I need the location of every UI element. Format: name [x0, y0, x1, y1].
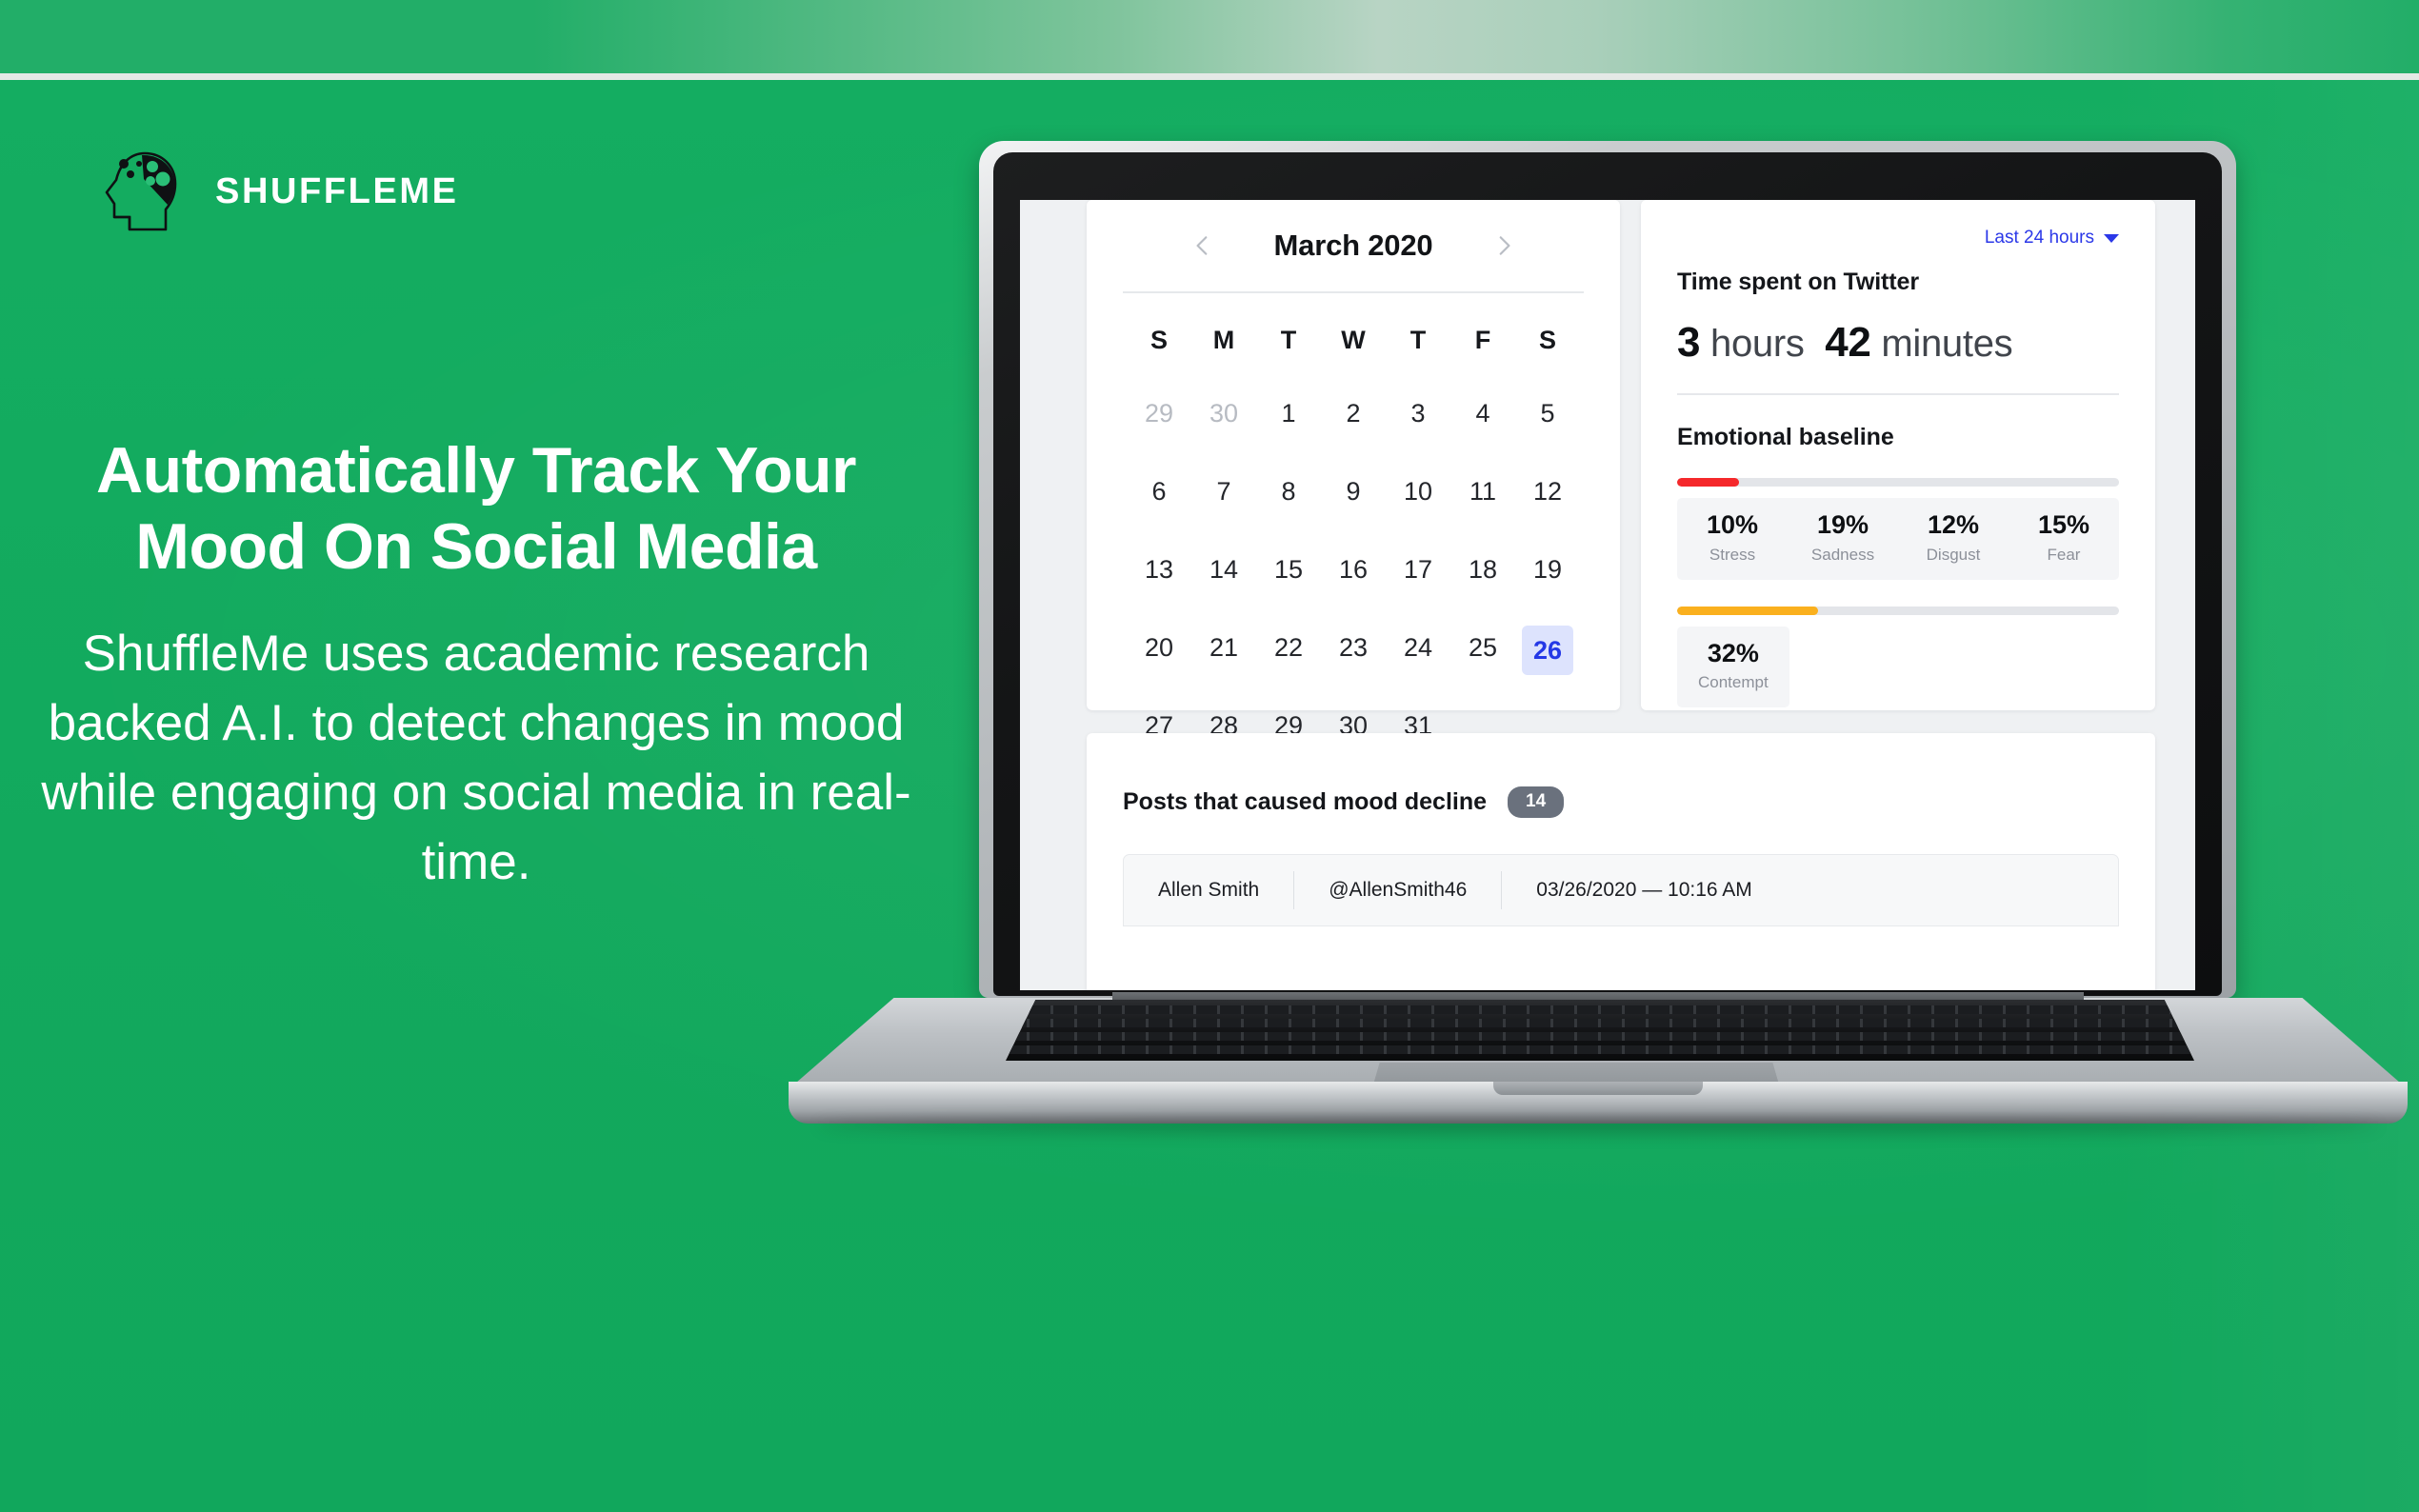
posts-title: Posts that caused mood decline — [1123, 788, 1487, 816]
stats-card: Last 24 hours Time spent on Twitter 3 ho… — [1641, 200, 2155, 710]
emotion-percent: 19% — [1809, 511, 1877, 540]
calendar-dow-5: F — [1450, 326, 1515, 355]
emotion-percent: 15% — [2029, 511, 2098, 540]
calendar-day-17[interactable]: 17 — [1386, 547, 1450, 591]
calendar-dow-2: T — [1256, 326, 1321, 355]
time-hours-unit: hours — [1710, 323, 1805, 365]
table-row[interactable]: Allen Smith @AllenSmith46 03/26/2020 — 1… — [1123, 854, 2119, 926]
stats-divider — [1677, 393, 2119, 395]
emotion-percent: 12% — [1919, 511, 1988, 540]
calendar-day-9[interactable]: 9 — [1321, 469, 1386, 513]
time-minutes-number: 42 — [1825, 319, 1870, 366]
emotion-label: Disgust — [1919, 546, 1988, 565]
calendar-day-label: 17 — [1404, 555, 1432, 584]
emotion-percent: 10% — [1698, 511, 1767, 540]
calendar-day-label: 10 — [1404, 477, 1432, 506]
time-spent-title: Time spent on Twitter — [1677, 269, 2119, 296]
chevron-down-icon[interactable] — [2104, 234, 2119, 243]
emotion-label: Sadness — [1809, 546, 1877, 565]
emotion-tile-disgust: 12%Disgust — [1898, 498, 2009, 580]
calendar-day-23[interactable]: 23 — [1321, 626, 1386, 669]
calendar-day-label: 11 — [1469, 477, 1496, 506]
emotion-tile-stress: 10%Stress — [1677, 498, 1788, 580]
post-author: Allen Smith — [1124, 879, 1293, 902]
calendar-day-label: 26 — [1522, 626, 1573, 675]
calendar-dow-3: W — [1321, 326, 1386, 355]
progress-fill — [1677, 478, 1739, 487]
calendar-day-20[interactable]: 20 — [1127, 626, 1191, 669]
calendar-day-30[interactable]: 30 — [1191, 391, 1256, 435]
calendar-day-2[interactable]: 2 — [1321, 391, 1386, 435]
calendar-grid: SMTWTFS 29301234567891011121314151617181… — [1087, 293, 1620, 747]
chevron-left-icon[interactable] — [1190, 233, 1215, 258]
calendar-day-label: 29 — [1145, 399, 1173, 428]
emotional-group-0: 10%Stress19%Sadness12%Disgust15%Fear — [1677, 478, 2119, 580]
emotional-baseline-title: Emotional baseline — [1677, 424, 2119, 451]
calendar-day-10[interactable]: 10 — [1386, 469, 1450, 513]
head-with-thought-bubbles-icon — [103, 150, 183, 232]
calendar-day-13[interactable]: 13 — [1127, 547, 1191, 591]
headline-line-2: Mood On Social Media — [135, 510, 816, 583]
calendar-day-14[interactable]: 14 — [1191, 547, 1256, 591]
calendar-day-label: 16 — [1339, 555, 1368, 584]
range-label[interactable]: Last 24 hours — [1985, 228, 2094, 249]
calendar-day-21[interactable]: 21 — [1191, 626, 1256, 669]
calendar-day-label: 7 — [1216, 477, 1230, 506]
emotion-label: Stress — [1698, 546, 1767, 565]
post-handle: @AllenSmith46 — [1294, 879, 1501, 902]
calendar-day-25[interactable]: 25 — [1450, 626, 1515, 669]
calendar-day-label: 24 — [1404, 633, 1432, 662]
calendar-day-8[interactable]: 8 — [1256, 469, 1321, 513]
calendar-day-label: 22 — [1274, 633, 1303, 662]
calendar-day-7[interactable]: 7 — [1191, 469, 1256, 513]
calendar-dow-6: S — [1515, 326, 1580, 355]
calendar-day-label: 23 — [1339, 633, 1368, 662]
calendar-day-1[interactable]: 1 — [1256, 391, 1321, 435]
calendar-header: March 2020 — [1087, 200, 1620, 291]
calendar-day-label: 6 — [1151, 477, 1166, 506]
calendar-day-label: 21 — [1209, 633, 1238, 662]
chevron-right-icon[interactable] — [1491, 233, 1516, 258]
calendar-day-19[interactable]: 19 — [1515, 547, 1580, 591]
post-timestamp: 03/26/2020 — 10:16 AM — [1502, 879, 1787, 902]
laptop-mockup: March 2020 SMTWTFS 293012345678910111213… — [789, 141, 2408, 1131]
laptop-screen: March 2020 SMTWTFS 293012345678910111213… — [1020, 200, 2195, 990]
page-title: Automatically Track Your Mood On Social … — [57, 433, 895, 585]
calendar-dow-4: T — [1386, 326, 1450, 355]
calendar-day-label: 15 — [1274, 555, 1303, 584]
calendar-day-label: 20 — [1145, 633, 1173, 662]
laptop-shadow — [817, 1118, 2379, 1133]
calendar-week-row: 293012345 — [1127, 391, 1580, 435]
calendar-day-label: 25 — [1469, 633, 1497, 662]
calendar-day-3[interactable]: 3 — [1386, 391, 1450, 435]
calendar-day-5[interactable]: 5 — [1515, 391, 1580, 435]
calendar-day-label: 5 — [1540, 399, 1554, 428]
laptop-base — [789, 975, 2408, 1131]
emotional-group-1: 32%Contempt — [1677, 607, 2119, 708]
calendar-day-label: 19 — [1533, 555, 1562, 584]
laptop-keyboard — [1006, 1000, 2194, 1061]
top-gradient-strip — [0, 0, 2419, 73]
app-content-area: March 2020 SMTWTFS 293012345678910111213… — [1087, 200, 2155, 990]
calendar-day-headers: SMTWTFS — [1127, 326, 1580, 355]
posts-count-badge: 14 — [1508, 786, 1564, 818]
calendar-day-4[interactable]: 4 — [1450, 391, 1515, 435]
brand-logo[interactable]: SHUFFLEME — [103, 150, 459, 232]
top-divider-line — [0, 73, 2419, 80]
calendar-day-label: 18 — [1469, 555, 1497, 584]
emotion-label: Contempt — [1698, 673, 1769, 692]
calendar-dow-0: S — [1127, 326, 1191, 355]
emotional-progress-bar — [1677, 607, 2119, 615]
calendar-day-6[interactable]: 6 — [1127, 469, 1191, 513]
calendar-day-label: 14 — [1209, 555, 1238, 584]
posts-card: Posts that caused mood decline 14 Allen … — [1087, 733, 2155, 990]
emotion-tile-fear: 15%Fear — [2009, 498, 2119, 580]
range-selector[interactable]: Last 24 hours — [1677, 225, 2119, 251]
calendar-day-15[interactable]: 15 — [1256, 547, 1321, 591]
calendar-dow-1: M — [1191, 326, 1256, 355]
emotion-tile-sadness: 19%Sadness — [1788, 498, 1898, 580]
calendar-day-label: 3 — [1410, 399, 1425, 428]
progress-fill — [1677, 607, 1818, 615]
posts-header: Posts that caused mood decline 14 — [1087, 733, 2155, 818]
emotion-percent: 32% — [1698, 640, 1769, 668]
headline-line-1: Automatically Track Your — [96, 434, 856, 507]
time-hours-number: 3 — [1677, 319, 1700, 366]
calendar-day-label: 4 — [1475, 399, 1489, 428]
calendar-week-row: 6789101112 — [1127, 469, 1580, 513]
brand-wordmark: SHUFFLEME — [215, 173, 459, 209]
calendar-month-title: March 2020 — [1274, 229, 1433, 263]
calendar-day-label: 30 — [1209, 399, 1238, 428]
emotion-tiles: 32%Contempt — [1677, 627, 1789, 708]
calendar-day-24[interactable]: 24 — [1386, 626, 1450, 669]
calendar-day-label: 9 — [1346, 477, 1360, 506]
calendar-week-row: 13141516171819 — [1127, 547, 1580, 591]
calendar-weeks: 2930123456789101112131415161718192021222… — [1127, 391, 1580, 747]
emotion-label: Fear — [2029, 546, 2098, 565]
laptop-front-notch — [1493, 1082, 1703, 1095]
time-minutes-unit: minutes — [1881, 323, 2012, 365]
calendar-day-label: 13 — [1145, 555, 1173, 584]
emotion-tiles: 10%Stress19%Sadness12%Disgust15%Fear — [1677, 498, 2119, 580]
emotion-tile-contempt: 32%Contempt — [1677, 627, 1789, 708]
time-spent-value: 3 hours 42 minutes — [1677, 319, 2119, 367]
dashboard-top-row: March 2020 SMTWTFS 293012345678910111213… — [1087, 200, 2155, 710]
calendar-day-label: 8 — [1281, 477, 1295, 506]
calendar-day-16[interactable]: 16 — [1321, 547, 1386, 591]
calendar-day-11[interactable]: 11 — [1450, 469, 1515, 513]
calendar-day-label: 12 — [1533, 477, 1562, 506]
calendar-card: March 2020 SMTWTFS 293012345678910111213… — [1087, 200, 1620, 710]
calendar-day-22[interactable]: 22 — [1256, 626, 1321, 669]
emotional-progress-bar — [1677, 478, 2119, 487]
app-window: March 2020 SMTWTFS 293012345678910111213… — [1020, 200, 2195, 990]
calendar-week-row: 20212223242526 — [1127, 626, 1580, 669]
calendar-day-29[interactable]: 29 — [1127, 391, 1191, 435]
calendar-day-label: 2 — [1346, 399, 1360, 428]
calendar-day-label: 1 — [1281, 399, 1295, 428]
calendar-day-26[interactable]: 26 — [1515, 626, 1580, 669]
calendar-day-18[interactable]: 18 — [1450, 547, 1515, 591]
calendar-day-12[interactable]: 12 — [1515, 469, 1580, 513]
